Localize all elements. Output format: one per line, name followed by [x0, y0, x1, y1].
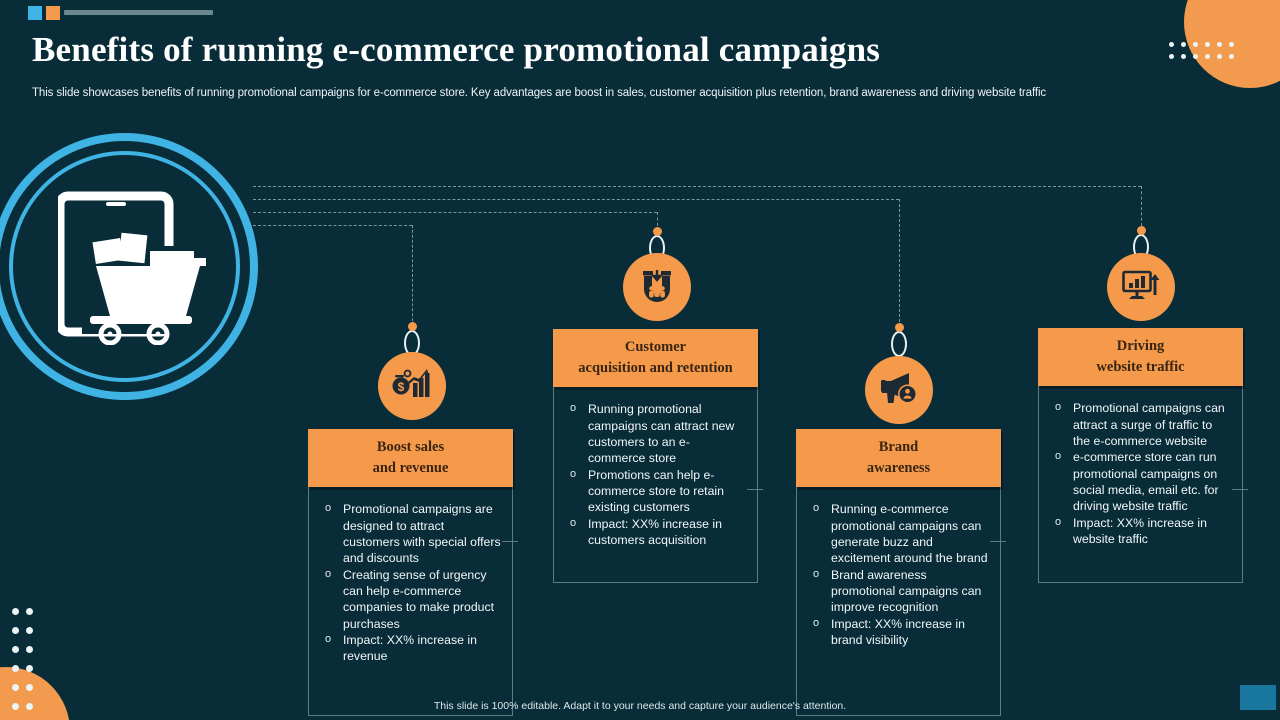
bullet-text: Impact: XX% increase in revenue	[343, 633, 477, 663]
card-1-title-line2: and revenue	[314, 458, 507, 479]
bullet-text: Promotions can help e-commerce store to …	[588, 468, 724, 515]
footer-note: This slide is 100% editable. Adapt it to…	[0, 700, 1280, 712]
list-item: oPromotions can help e-commerce store to…	[562, 467, 747, 516]
list-item: oImpact: XX% increase in brand visibilit…	[805, 616, 990, 649]
card-2-bullet-list: oRunning promotional campaigns can attra…	[562, 401, 747, 548]
card-2-body: oRunning promotional campaigns can attra…	[553, 387, 758, 583]
list-item: oImpact: XX% increase in customers acqui…	[562, 516, 747, 549]
slide-canvas: Benefits of running e-commerce promotion…	[0, 0, 1280, 720]
card-3-knob	[895, 323, 904, 332]
bullet-text: Creating sense of urgency can help e-com…	[343, 568, 494, 631]
card-3-bullet-list: oRunning e-commerce promotional campaign…	[805, 501, 990, 648]
card-4-knob	[1137, 226, 1146, 235]
top-right-dot-grid	[1169, 42, 1241, 66]
card-4-bullet-list: oPromotional campaigns can attract a sur…	[1047, 400, 1232, 547]
card-2-title-line1: Customer	[559, 337, 752, 358]
card-3-body: oRunning e-commerce promotional campaign…	[796, 487, 1001, 716]
bullet-marker: o	[325, 632, 331, 647]
bullet-text: Brand awareness promotional campaigns ca…	[831, 568, 981, 615]
megaphone-badge-icon	[879, 371, 919, 410]
connector-line-2	[253, 212, 657, 213]
card-3-right-tick	[990, 541, 1006, 542]
list-item: oBrand awareness promotional campaigns c…	[805, 567, 990, 616]
shopping-cart-mobile-icon	[58, 190, 206, 350]
card-1-header: Boost sales and revenue	[308, 429, 513, 487]
card-2-badge	[623, 253, 691, 321]
bullet-text: Impact: XX% increase in brand visibility	[831, 617, 965, 647]
connector-line-3	[253, 199, 899, 200]
card-2-knob	[653, 227, 662, 236]
list-item: oCreating sense of urgency can help e-co…	[317, 567, 502, 632]
card-1-right-tick	[502, 541, 518, 542]
bullet-marker: o	[325, 567, 331, 582]
bullet-text: Impact: XX% increase in customers acquis…	[588, 517, 722, 547]
bullet-marker: o	[813, 616, 819, 631]
card-4-right-tick	[1232, 489, 1248, 490]
bullet-text: Promotional campaigns are designed to at…	[343, 502, 501, 565]
card-2-header: Customer acquisition and retention	[553, 329, 758, 387]
bullet-marker: o	[570, 516, 576, 531]
card-4-header: Driving website traffic	[1038, 328, 1243, 386]
card-1-body: oPromotional campaigns are designed to a…	[308, 487, 513, 716]
bullet-marker: o	[570, 467, 576, 482]
top-left-blue-square	[28, 6, 42, 20]
bullet-marker: o	[570, 401, 576, 416]
card-3-title-line1: Brand	[802, 437, 995, 458]
bullet-text: e-commerce store can run promotional cam…	[1073, 450, 1219, 513]
connector-drop-4	[1141, 186, 1142, 226]
card-1-knob	[408, 322, 417, 331]
connector-drop-3	[899, 199, 900, 327]
connector-drop-1	[412, 225, 413, 326]
bullet-text: Promotional campaigns can attract a surg…	[1073, 401, 1225, 448]
top-left-progress-bar	[64, 10, 213, 15]
bullet-marker: o	[1055, 449, 1061, 464]
connector-line-4	[253, 186, 1141, 187]
bullet-text: Running e-commerce promotional campaigns…	[831, 502, 988, 565]
card-3-badge	[865, 356, 933, 424]
list-item: oPromotional campaigns are designed to a…	[317, 501, 502, 566]
magnet-customers-icon	[638, 266, 676, 309]
card-driving-website-traffic[interactable]: Driving website traffic oPromotional cam…	[1038, 328, 1243, 583]
list-item: oImpact: XX% increase in website traffic	[1047, 515, 1232, 548]
card-brand-awareness[interactable]: Brand awareness oRunning e-commerce prom…	[796, 429, 1001, 716]
card-4-title-line1: Driving	[1044, 336, 1237, 357]
card-4-badge	[1107, 253, 1175, 321]
card-3-title-line2: awareness	[802, 458, 995, 479]
card-1-title-line1: Boost sales	[314, 437, 507, 458]
bullet-marker: o	[813, 567, 819, 582]
sales-growth-chart-icon: $	[392, 367, 432, 406]
list-item: oPromotional campaigns can attract a sur…	[1047, 400, 1232, 449]
card-1-badge: $	[378, 352, 446, 420]
bullet-marker: o	[1055, 400, 1061, 415]
connector-drop-2	[657, 212, 658, 226]
page-subtitle: This slide showcases benefits of running…	[32, 87, 1046, 99]
list-item: oRunning e-commerce promotional campaign…	[805, 501, 990, 566]
card-2-right-tick	[747, 489, 763, 490]
bullet-marker: o	[813, 501, 819, 516]
card-boost-sales-and-revenue[interactable]: Boost sales and revenue oPromotional cam…	[308, 429, 513, 716]
card-1-bullet-list: oPromotional campaigns are designed to a…	[317, 501, 502, 664]
card-3-hanger	[891, 331, 907, 357]
monitor-traffic-growth-icon	[1121, 268, 1161, 307]
page-title: Benefits of running e-commerce promotion…	[32, 30, 880, 70]
bullet-text: Running promotional campaigns can attrac…	[588, 402, 734, 465]
top-left-orange-square	[46, 6, 60, 20]
bullet-marker: o	[1055, 515, 1061, 530]
bullet-marker: o	[325, 501, 331, 516]
card-4-body: oPromotional campaigns can attract a sur…	[1038, 386, 1243, 583]
card-customer-acquisition-and-retention[interactable]: Customer acquisition and retention oRunn…	[553, 329, 758, 583]
list-item: oRunning promotional campaigns can attra…	[562, 401, 747, 466]
card-2-title-line2: acquisition and retention	[559, 358, 752, 379]
list-item: oe-commerce store can run promotional ca…	[1047, 449, 1232, 514]
card-3-header: Brand awareness	[796, 429, 1001, 487]
connector-line-1	[253, 225, 412, 226]
list-item: oImpact: XX% increase in revenue	[317, 632, 502, 665]
bullet-text: Impact: XX% increase in website traffic	[1073, 516, 1207, 546]
svg-text:$: $	[398, 380, 405, 394]
card-4-title-line2: website traffic	[1044, 357, 1237, 378]
